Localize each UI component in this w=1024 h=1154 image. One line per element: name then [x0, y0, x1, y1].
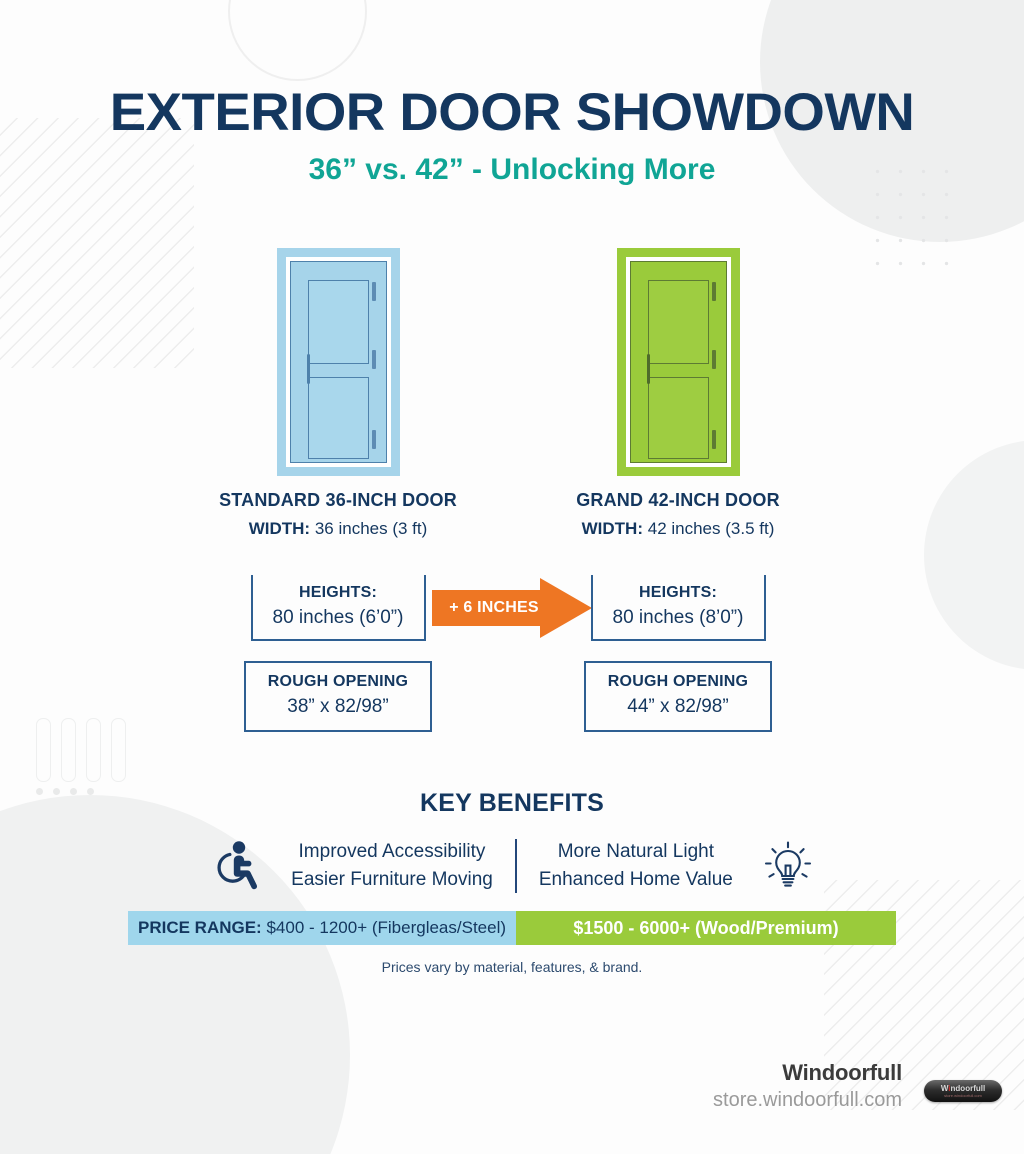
door-hinge-icon — [372, 282, 376, 301]
door-panel-top — [308, 280, 369, 364]
door-panel-top — [648, 280, 709, 364]
benefit-right-line2: Enhanced Home Value — [539, 866, 733, 894]
price-right-segment: $1500 - 6000+ (Wood/Premium) — [516, 911, 896, 945]
infographic-canvas: EXTERIOR DOOR SHOWDOWN 36” vs. 42” - Unl… — [0, 0, 1024, 1154]
brand-block: Windoorfull store.windoorfull.com — [713, 1060, 902, 1112]
page-subtitle: 36” vs. 42” - Unlocking More — [0, 153, 1024, 187]
door-width-grand: WIDTH: 42 inches (3.5 ft) — [513, 519, 843, 539]
spec-column-grand: HEIGHTS: 80 inches (8’0”) ROUGH OPENING … — [513, 575, 843, 732]
benefit-left-line1: Improved Accessibility — [291, 838, 493, 866]
rough-opening-box-grand: ROUGH OPENING 44” x 82/98” — [584, 661, 772, 732]
door-hinge-icon — [372, 430, 376, 449]
door-caption-grand: GRAND 42-INCH DOOR WIDTH: 42 inches (3.5… — [513, 490, 843, 539]
door-title-standard: STANDARD 36-INCH DOOR — [173, 490, 503, 511]
price-left-segment: PRICE RANGE: $400 - 1200+ (Fibergleas/St… — [128, 911, 516, 945]
width-label: WIDTH: — [249, 519, 310, 538]
door-panel-bottom — [648, 377, 709, 459]
door-hinge-icon — [372, 350, 376, 369]
arrow-label: + 6 INCHES — [440, 590, 548, 626]
heights-value: 80 inches (6’0”) — [261, 607, 416, 629]
price-range-label: PRICE RANGE: — [138, 918, 262, 938]
door-handle-icon — [307, 354, 310, 384]
heights-box-grand: HEIGHTS: 80 inches (8’0”) — [591, 575, 766, 641]
logo-wordmark: Windoorfull — [941, 1085, 985, 1093]
heights-box-standard: HEIGHTS: 80 inches (6’0”) — [251, 575, 426, 641]
benefit-right-line1: More Natural Light — [539, 838, 733, 866]
door-hinge-icon — [712, 350, 716, 369]
decorative-ring-top — [228, 0, 367, 81]
price-disclaimer: Prices vary by material, features, & bra… — [0, 959, 1024, 975]
benefit-right-text: More Natural Light Enhanced Home Value — [517, 838, 755, 893]
door-handle-icon — [647, 354, 650, 384]
footer: Windoorfull store.windoorfull.com Windoo… — [0, 1060, 1024, 1130]
heights-label: HEIGHTS: — [261, 584, 416, 602]
rough-opening-value: 44” x 82/98” — [594, 696, 762, 718]
rough-opening-box-standard: ROUGH OPENING 38” x 82/98” — [244, 661, 432, 732]
rough-opening-label: ROUGH OPENING — [594, 673, 762, 691]
decorative-bars — [36, 718, 144, 780]
lightbulb-icon — [755, 838, 821, 894]
door-hinge-icon — [712, 430, 716, 449]
width-value: 36 inches (3 ft) — [315, 519, 427, 538]
rough-opening-value: 38” x 82/98” — [254, 696, 422, 718]
door-icon-standard — [277, 248, 400, 476]
heights-value: 80 inches (8’0”) — [601, 607, 756, 629]
wheelchair-accessibility-icon — [203, 840, 269, 892]
door-caption-standard: STANDARD 36-INCH DOOR WIDTH: 36 inches (… — [173, 490, 503, 539]
benefit-left-text: Improved Accessibility Easier Furniture … — [269, 838, 515, 893]
price-range-bar: PRICE RANGE: $400 - 1200+ (Fibergleas/St… — [128, 911, 896, 945]
price-left-value: $400 - 1200+ (Fibergleas/Steel) — [266, 918, 506, 938]
benefit-left-line2: Easier Furniture Moving — [291, 866, 493, 894]
door-comparison: + 6 INCHES — [0, 248, 1024, 478]
page-title: EXTERIOR DOOR SHOWDOWN — [0, 86, 1024, 139]
door-icon-grand — [617, 248, 740, 476]
logo-tagline: store.windoorfull.com — [944, 1094, 982, 1098]
key-benefits-row: Improved Accessibility Easier Furniture … — [0, 830, 1024, 902]
door-width-standard: WIDTH: 36 inches (3 ft) — [173, 519, 503, 539]
door-title-grand: GRAND 42-INCH DOOR — [513, 490, 843, 511]
brand-name: Windoorfull — [713, 1060, 902, 1086]
price-right-value: $1500 - 6000+ (Wood/Premium) — [573, 918, 838, 939]
heights-label: HEIGHTS: — [601, 584, 756, 602]
door-panel-bottom — [308, 377, 369, 459]
door-hinge-icon — [712, 282, 716, 301]
rough-opening-label: ROUGH OPENING — [254, 673, 422, 691]
width-label: WIDTH: — [582, 519, 643, 538]
brand-url[interactable]: store.windoorfull.com — [713, 1089, 902, 1112]
header: EXTERIOR DOOR SHOWDOWN 36” vs. 42” - Unl… — [0, 86, 1024, 187]
key-benefits-title: KEY BENEFITS — [0, 789, 1024, 818]
width-value: 42 inches (3.5 ft) — [648, 519, 775, 538]
brand-logo-icon: Windoorfull store.windoorfull.com — [924, 1080, 1002, 1102]
